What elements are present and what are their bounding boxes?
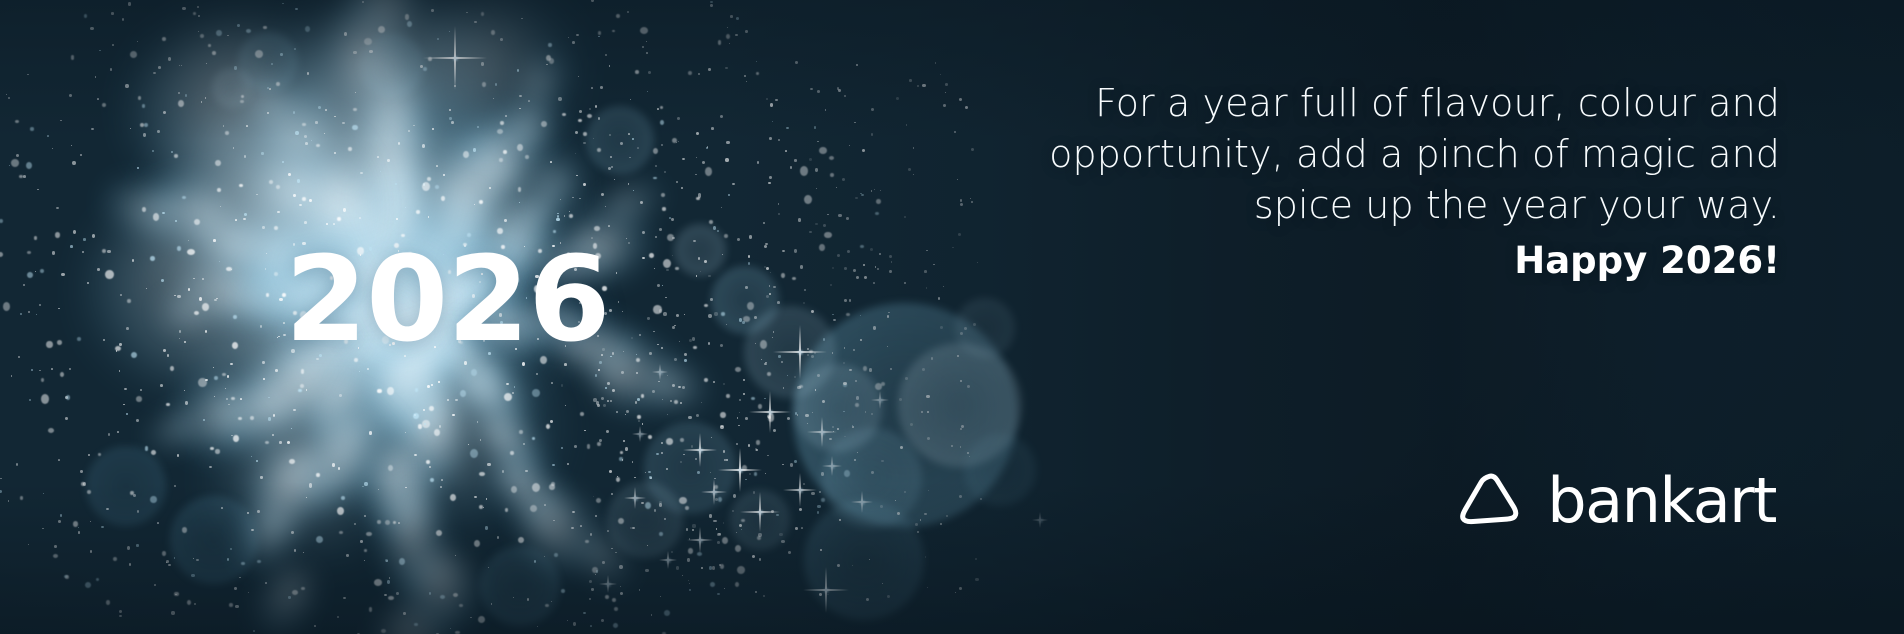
bankart-logo[interactable]: bankart [1459, 470, 1776, 532]
rounded-triangle-icon [1459, 471, 1521, 531]
bankart-wordmark: bankart [1547, 470, 1776, 532]
message-line-2: opportunity, add a pinch of magic and [1020, 129, 1780, 180]
message-line-3: spice up the year your way. [1020, 180, 1780, 231]
greeting-highlight: Happy 2026! [1020, 234, 1780, 288]
greeting-message: For a year full of flavour, colour and o… [1020, 78, 1780, 288]
year-headline: 2026 [285, 240, 609, 358]
new-year-banner: 2026 For a year full of flavour, colour … [0, 0, 1904, 634]
message-line-1: For a year full of flavour, colour and [1020, 78, 1780, 129]
